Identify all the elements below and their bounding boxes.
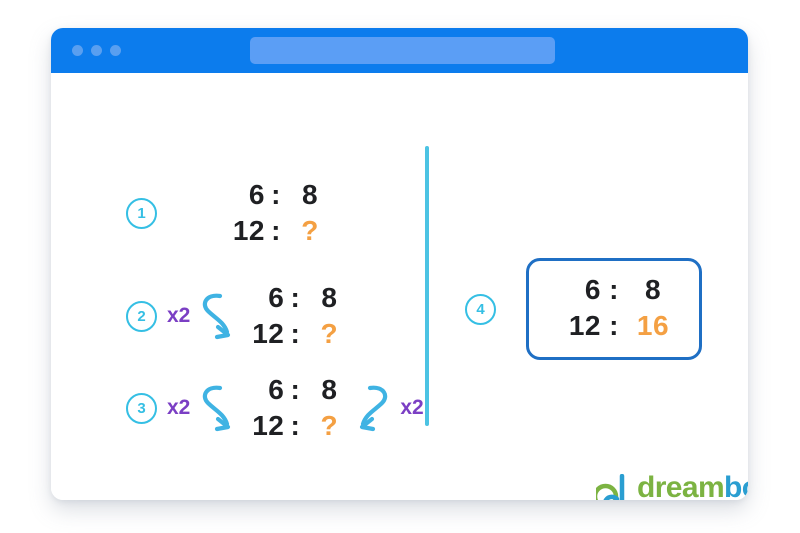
window-controls[interactable] bbox=[72, 45, 121, 56]
ratio-bottom-unknown: ? bbox=[306, 317, 352, 351]
step-badge: 4 bbox=[465, 294, 496, 325]
step-badge: 3 bbox=[126, 393, 157, 424]
step-badge: 1 bbox=[126, 198, 157, 229]
ratio-top-colon: : bbox=[265, 178, 287, 212]
curved-arrow-down-right-icon bbox=[198, 290, 232, 342]
ratio-bottom-row: 12 : ? bbox=[238, 317, 352, 351]
ratio-bottom-row: 12 : 16 bbox=[549, 309, 679, 343]
ratio-bottom-left: 12 bbox=[238, 317, 284, 351]
answer-box: 6 : 8 12 : 16 bbox=[526, 258, 702, 360]
logo-word-box: box bbox=[724, 471, 748, 500]
step-2: 2 x2 6 : 8 12 : bbox=[126, 281, 352, 351]
right-multiplier-label: x2 bbox=[400, 396, 423, 420]
minimize-dot-icon[interactable] bbox=[91, 45, 102, 56]
step-badge: 2 bbox=[126, 301, 157, 332]
logo-word-dream: dream bbox=[637, 471, 724, 500]
left-multiplier-label: x2 bbox=[167, 304, 190, 328]
ratio-top-row: 6 : 8 bbox=[549, 273, 679, 307]
ratio-bottom-left: 12 bbox=[238, 409, 284, 443]
ratio-bottom-colon: : bbox=[284, 317, 306, 351]
ratio-pair: 6 : 8 12 : 16 bbox=[549, 273, 679, 343]
ratio-bottom-row: 12 : ? bbox=[219, 214, 333, 248]
ratio-bottom-left: 12 bbox=[549, 309, 601, 343]
ratio-pair: 6 : 8 12 : ? bbox=[238, 281, 352, 351]
ratio-pair: 6 : 8 12 : ? bbox=[238, 373, 352, 443]
ratio-bottom-colon: : bbox=[601, 309, 627, 343]
dreambox-wordmark: dreambox® By Discovery Education bbox=[637, 473, 748, 500]
ratio-top-right: 8 bbox=[627, 273, 679, 307]
browser-window: 1 6 : 8 12 : ? 2 bbox=[51, 28, 748, 500]
ratio-top-colon: : bbox=[284, 281, 306, 315]
curved-arrow-down-right-icon bbox=[198, 382, 232, 434]
lesson-canvas: 1 6 : 8 12 : ? 2 bbox=[51, 73, 748, 500]
step-3: 3 x2 6 : 8 12 : bbox=[126, 373, 424, 443]
ratio-top-colon: : bbox=[601, 273, 627, 307]
ratio-top-left: 6 bbox=[238, 373, 284, 407]
ratio-bottom-answer: 16 bbox=[627, 309, 679, 343]
ratio-top-right: 8 bbox=[306, 281, 352, 315]
browser-title-bar bbox=[51, 28, 748, 73]
ratio-bottom-row: 12 : ? bbox=[238, 409, 352, 443]
ratio-bottom-unknown: ? bbox=[287, 214, 333, 248]
ratio-top-right: 8 bbox=[287, 178, 333, 212]
ratio-bottom-left: 12 bbox=[219, 214, 265, 248]
vertical-divider bbox=[425, 146, 429, 426]
ratio-top-row: 6 : 8 bbox=[238, 373, 352, 407]
maximize-dot-icon[interactable] bbox=[110, 45, 121, 56]
ratio-top-row: 6 : 8 bbox=[219, 178, 333, 212]
dreambox-mark-icon bbox=[596, 474, 633, 500]
ratio-top-row: 6 : 8 bbox=[238, 281, 352, 315]
address-bar[interactable] bbox=[250, 37, 555, 64]
left-multiplier-label: x2 bbox=[167, 396, 190, 420]
ratio-top-right: 8 bbox=[306, 373, 352, 407]
curved-arrow-down-left-icon bbox=[358, 382, 392, 434]
dreambox-logo: dreambox® By Discovery Education bbox=[596, 473, 748, 500]
ratio-bottom-colon: : bbox=[284, 409, 306, 443]
ratio-pair: 6 : 8 12 : ? bbox=[219, 178, 333, 248]
ratio-top-colon: : bbox=[284, 373, 306, 407]
ratio-top-left: 6 bbox=[549, 273, 601, 307]
ratio-bottom-colon: : bbox=[265, 214, 287, 248]
ratio-top-left: 6 bbox=[219, 178, 265, 212]
ratio-bottom-unknown: ? bbox=[306, 409, 352, 443]
step-1: 1 6 : 8 12 : ? bbox=[126, 178, 333, 248]
step-4: 4 6 : 8 12 : 16 bbox=[465, 258, 702, 360]
screenshot-stage: 1 6 : 8 12 : ? 2 bbox=[0, 0, 800, 533]
ratio-top-left: 6 bbox=[238, 281, 284, 315]
close-dot-icon[interactable] bbox=[72, 45, 83, 56]
